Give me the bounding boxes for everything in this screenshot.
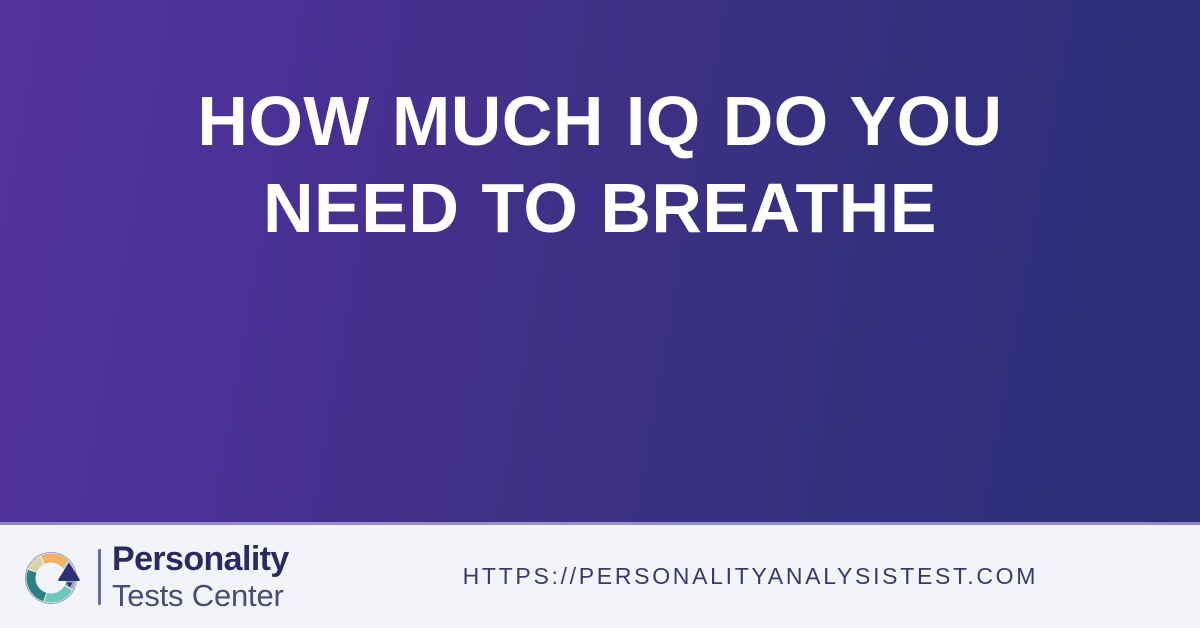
website-url[interactable]: https://personalityanalysistest.com (463, 563, 1038, 590)
hero-banner: How Much IQ Do You Need To Breathe (0, 0, 1200, 522)
footer-bar: Personality Tests Center https://persona… (0, 525, 1200, 628)
brand-name-secondary: Tests Center (112, 578, 289, 614)
brand-vertical-rule (98, 549, 101, 605)
brand-logo[interactable]: Personality Tests Center (22, 540, 289, 614)
brand-wordmark: Personality Tests Center (112, 540, 289, 614)
donut-chart-logo-icon (22, 546, 84, 608)
hero-content: How Much IQ Do You Need To Breathe (100, 0, 1100, 252)
footer-url-container: https://personalityanalysistest.com (289, 563, 1172, 590)
share-card: How Much IQ Do You Need To Breathe (0, 0, 1200, 628)
page-title: How Much IQ Do You Need To Breathe (170, 78, 1030, 252)
brand-name-primary: Personality (112, 540, 289, 578)
